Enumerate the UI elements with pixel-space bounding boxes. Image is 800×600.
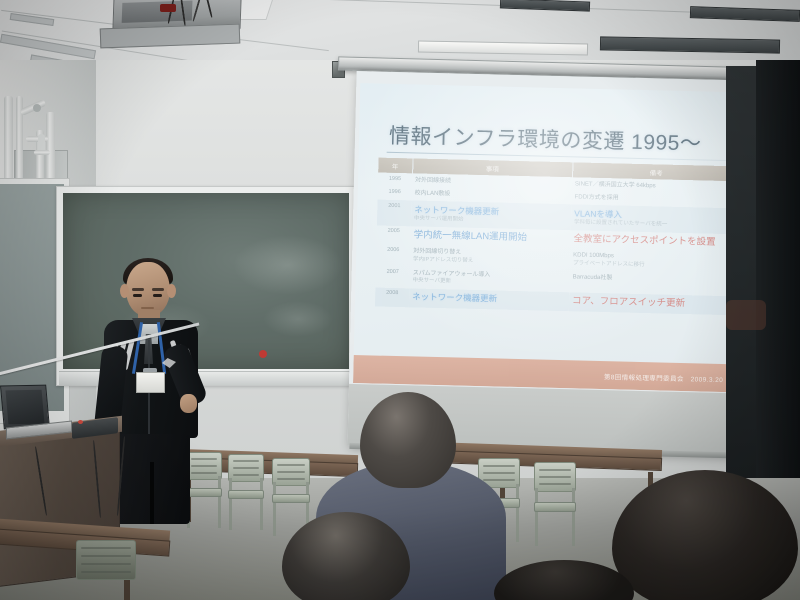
ceiling-light <box>500 0 590 12</box>
presenter-ear <box>167 284 176 298</box>
projected-slide: 情報インフラ環境の変遷 1995～ 年 事項 備考 1995 対外回線接続 <box>353 83 764 393</box>
lecture-room-photo: 情報インフラ環境の変遷 1995～ 年 事項 備考 1995 対外回線接続 <box>0 0 800 600</box>
presenter-right-hand <box>180 394 197 413</box>
ceiling-light <box>418 41 588 56</box>
projection-glow <box>353 83 764 393</box>
presenter-brow <box>152 288 164 291</box>
device-led-icon <box>78 420 83 424</box>
presenter-eye <box>133 294 142 297</box>
ceiling-light <box>600 36 780 53</box>
pointer-tip <box>259 350 267 358</box>
curtain <box>726 300 766 330</box>
name-badge <box>136 372 165 393</box>
presenter-mouth <box>141 307 154 309</box>
audience-member-center-head <box>360 392 456 488</box>
presenter-eye <box>153 294 162 297</box>
projector-connector <box>160 4 176 12</box>
pipe-fitting <box>33 104 41 112</box>
ceiling-light <box>690 6 800 22</box>
wall-pipe-clamp <box>34 150 50 155</box>
leg-separation <box>150 462 154 524</box>
chair <box>228 454 264 530</box>
chair <box>534 462 576 546</box>
presenter-brow <box>132 288 144 291</box>
projector-mount-plate <box>100 24 241 49</box>
presenter-ear <box>120 284 129 298</box>
chair <box>76 540 136 600</box>
